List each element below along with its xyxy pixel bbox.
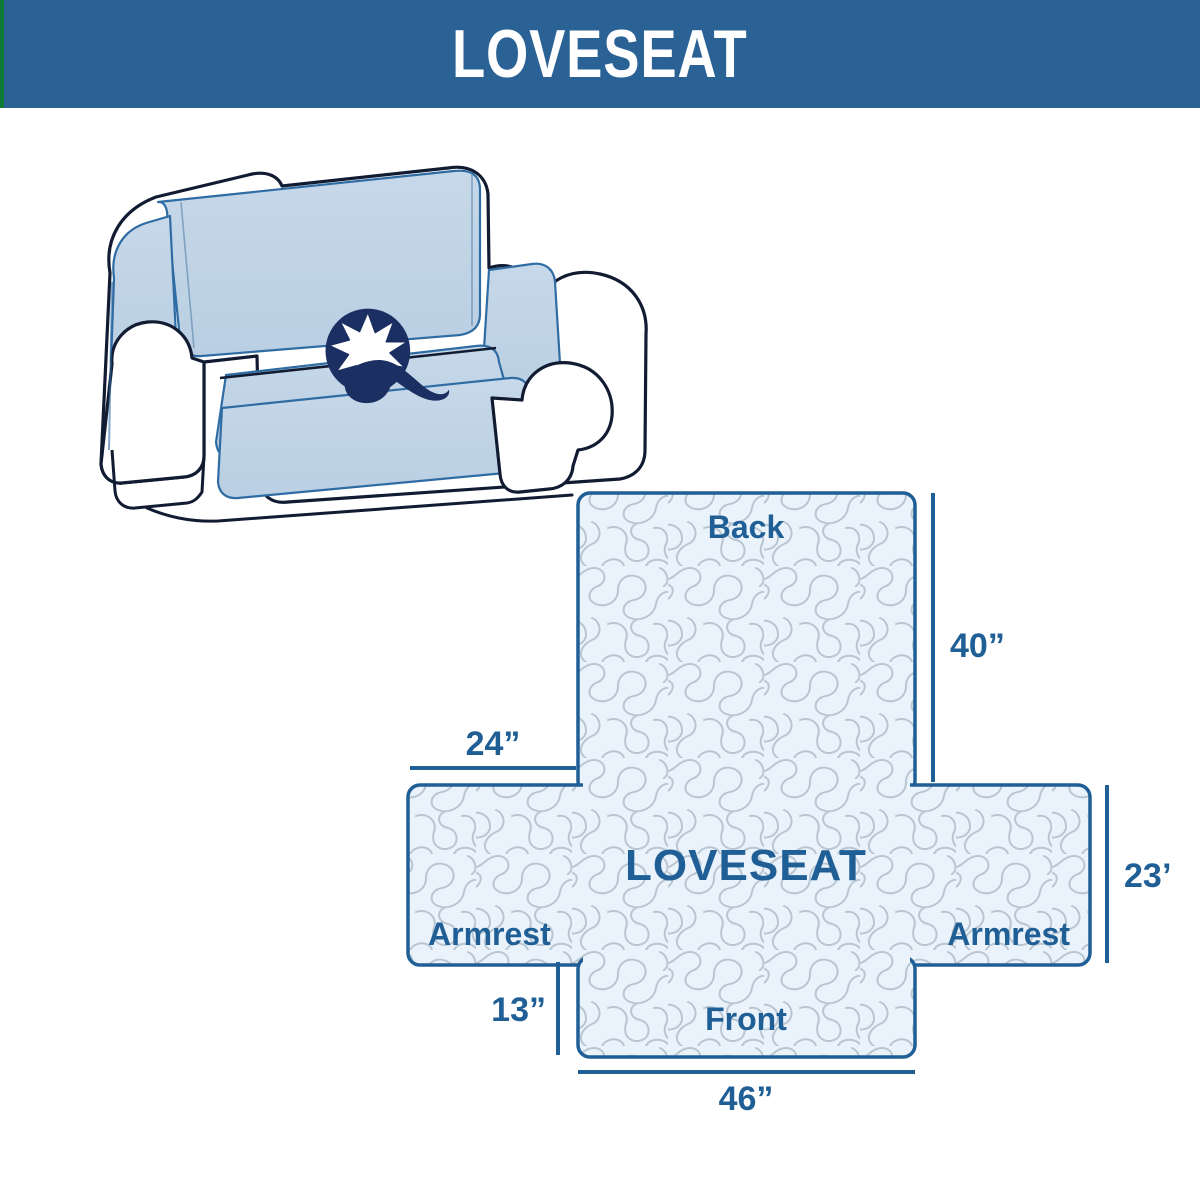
left-rolled-arm xyxy=(101,322,204,483)
label-center-loveseat: LOVESEAT xyxy=(625,841,867,890)
cover-dimension-diagram: Back LOVESEAT Armrest Armrest Front 40” … xyxy=(380,470,1170,1150)
cover-cross-shape xyxy=(408,493,1090,1057)
page-header: LOVESEAT xyxy=(0,0,1200,108)
dimension-value-armrest-depth: 23” xyxy=(1124,857,1170,895)
label-front: Front xyxy=(705,1001,787,1037)
label-armrest-left: Armrest xyxy=(428,916,551,952)
page-root: LOVESEAT xyxy=(0,0,1200,1200)
backrest-cover-panel xyxy=(158,171,480,356)
joint-mask-top xyxy=(583,780,910,792)
page-title: LOVESEAT xyxy=(452,20,748,88)
label-armrest-right: Armrest xyxy=(947,916,1070,952)
label-back: Back xyxy=(708,509,785,545)
dimension-value-front-height: 13” xyxy=(491,991,546,1029)
dimension-value-front-width: 46” xyxy=(719,1080,774,1118)
dimension-value-back-width: 24” xyxy=(466,725,521,763)
joint-mask-bottom xyxy=(583,954,910,966)
header-accent-stripe xyxy=(0,0,4,108)
dimension-value-back-height: 40” xyxy=(950,627,1005,665)
